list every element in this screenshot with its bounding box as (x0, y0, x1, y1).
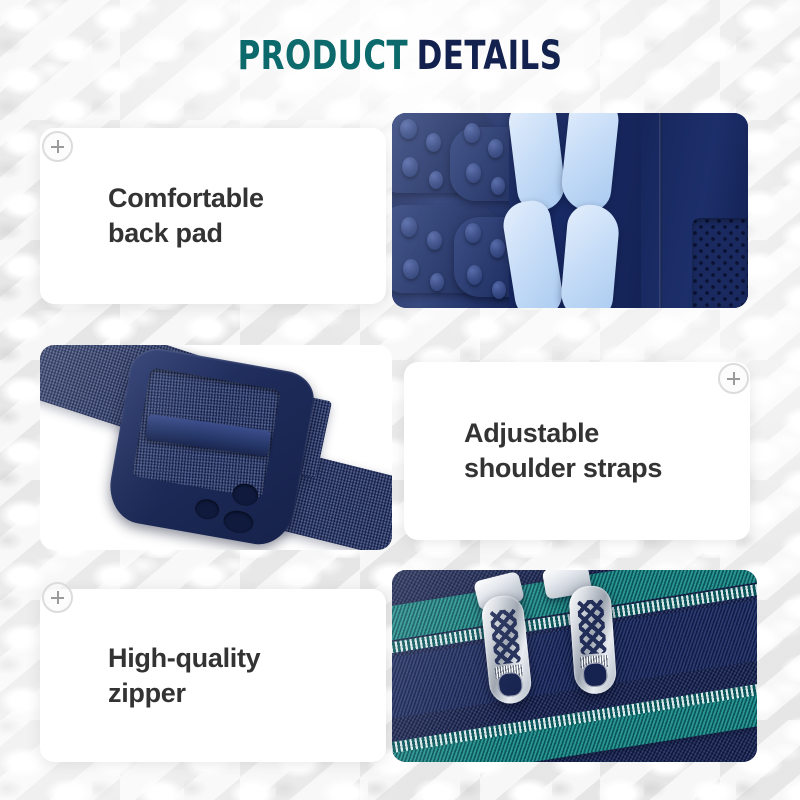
feature-label-adjustable-shoulder-straps: Adjustable shoulder straps (404, 416, 662, 485)
back-pad-side-panel (641, 113, 748, 308)
cushion-pad (560, 203, 622, 308)
pad-bump (465, 223, 481, 243)
pad-bump (402, 157, 418, 177)
cushion-pad (501, 198, 567, 308)
back-pad-bump-panel (392, 113, 509, 308)
back-pad-cushion-panel (509, 113, 641, 308)
pad-bump (464, 123, 480, 143)
pad-bump (403, 259, 419, 279)
page-title-part1: PRODUCT (238, 33, 408, 79)
shoulder-strap-buckle-photo[interactable] (40, 345, 392, 550)
zipper-pulls-photo[interactable] (392, 570, 757, 762)
cushion-pad (507, 113, 568, 214)
feature-label-comfortable-back-pad: Comfortable back pad (40, 181, 264, 250)
adjuster-buckle (104, 345, 318, 550)
buckle-hole (222, 508, 255, 535)
pad-seam (659, 113, 662, 308)
feature-card-adjustable-shoulder-straps[interactable]: Adjustable shoulder straps (404, 362, 750, 540)
feature-card-high-quality-zipper[interactable]: High-quality zipper (40, 589, 386, 762)
pad-bump (430, 273, 444, 291)
zipper-pull-lattice (577, 599, 607, 655)
page-header: PRODUCTDETAILS (0, 36, 800, 76)
zipper-pull-lattice (490, 609, 522, 665)
feature-label-line2: zipper (108, 676, 260, 711)
page-title-part2: DETAILS (417, 33, 563, 79)
page-title: PRODUCTDETAILS (56, 36, 744, 76)
zipper-pull-eye (497, 671, 523, 697)
pad-bump (427, 231, 442, 250)
pad-bump (400, 119, 417, 139)
product-details-infographic: PRODUCTDETAILS Comfortable back pad (0, 0, 800, 800)
feature-label-line1: High-quality (108, 641, 260, 676)
zipper-pull-right (568, 585, 617, 696)
feature-label-line2: shoulder straps (464, 451, 662, 486)
pad-bump (466, 163, 481, 183)
back-pad-photo[interactable] (392, 113, 748, 308)
plus-icon-adjustable-shoulder-straps[interactable] (718, 363, 749, 394)
feature-card-comfortable-back-pad[interactable]: Comfortable back pad (40, 128, 386, 304)
feature-label-line1: Comfortable (108, 181, 264, 216)
feature-label-high-quality-zipper: High-quality zipper (40, 641, 260, 710)
pad-bump (490, 239, 505, 258)
plus-icon-comfortable-back-pad[interactable] (42, 131, 73, 162)
cushion-pad (560, 113, 622, 213)
pad-bump (401, 217, 417, 237)
zipper-pull-eye (582, 662, 608, 688)
feature-label-line2: back pad (108, 216, 264, 251)
feature-label-line1: Adjustable (464, 416, 662, 451)
plus-icon-high-quality-zipper[interactable] (42, 582, 73, 613)
buckle-hole (194, 497, 221, 521)
pad-bump (426, 133, 441, 152)
pad-bump (488, 139, 503, 158)
pad-bump (467, 265, 482, 285)
pad-bump (491, 177, 505, 195)
mesh-pocket (692, 218, 748, 308)
pad-bump (492, 281, 506, 299)
pad-bump (429, 171, 443, 189)
